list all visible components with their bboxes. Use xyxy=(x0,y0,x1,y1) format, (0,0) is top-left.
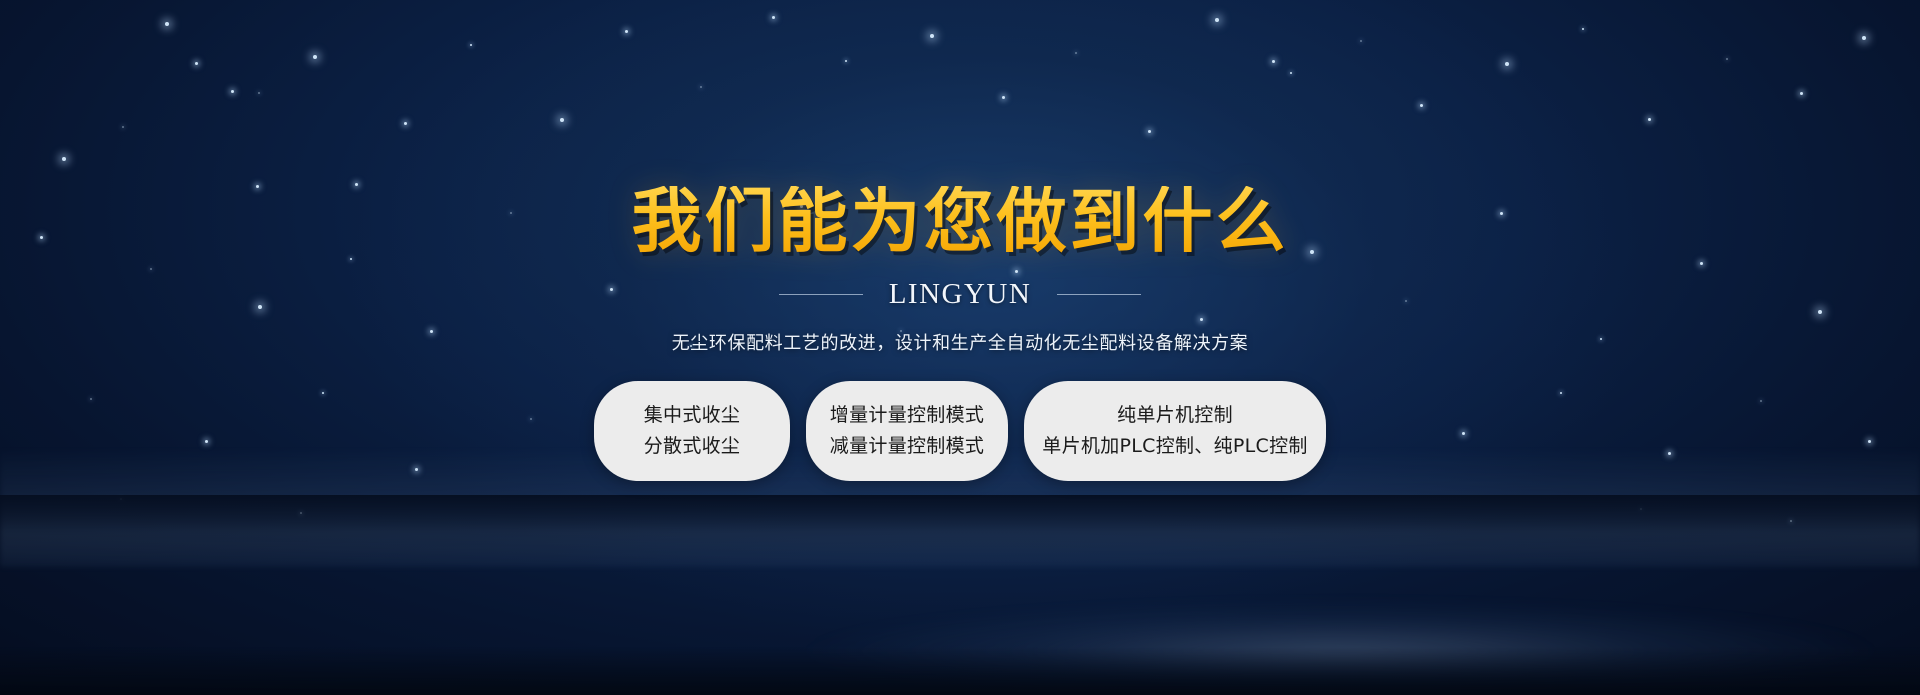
feature-card[interactable]: 纯单片机控制 单片机加PLC控制、纯PLC控制 xyxy=(1024,381,1326,481)
feature-card[interactable]: 增量计量控制模式 减量计量控制模式 xyxy=(806,381,1008,481)
card-line-secondary: 单片机加PLC控制、纯PLC控制 xyxy=(1042,431,1307,462)
card-line-secondary: 分散式收尘 xyxy=(644,431,741,462)
feature-card-list: 集中式收尘 分散式收尘 增量计量控制模式 减量计量控制模式 纯单片机控制 单片机… xyxy=(594,381,1326,481)
feature-card[interactable]: 集中式收尘 分散式收尘 xyxy=(594,381,790,481)
card-line-secondary: 减量计量控制模式 xyxy=(830,431,984,462)
banner-content: 我们能为您做到什么 LINGYUN 无尘环保配料工艺的改进，设计和生产全自动化无… xyxy=(0,0,1920,695)
brand-row: LINGYUN xyxy=(779,278,1142,311)
card-line-primary: 增量计量控制模式 xyxy=(830,400,984,431)
card-line-primary: 集中式收尘 xyxy=(644,400,741,431)
divider-left xyxy=(779,294,863,295)
divider-right xyxy=(1057,294,1141,295)
card-line-primary: 纯单片机控制 xyxy=(1117,400,1233,431)
banner-description: 无尘环保配料工艺的改进，设计和生产全自动化无尘配料设备解决方案 xyxy=(672,329,1249,355)
brand-name: LINGYUN xyxy=(889,278,1032,311)
hero-banner: 我们能为您做到什么 LINGYUN 无尘环保配料工艺的改进，设计和生产全自动化无… xyxy=(0,0,1920,695)
page-title: 我们能为您做到什么 xyxy=(632,186,1289,256)
